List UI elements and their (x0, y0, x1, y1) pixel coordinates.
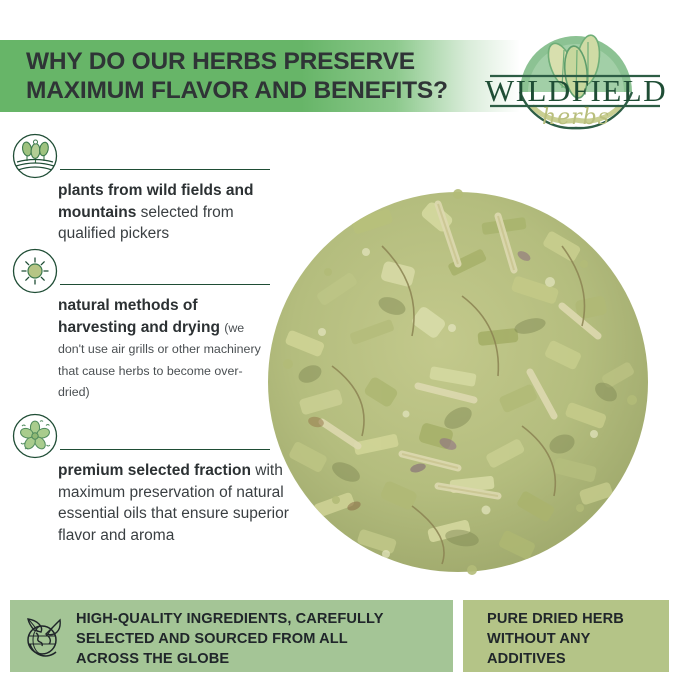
flower-icon (12, 413, 58, 459)
feature-text: plants from wild fields and mountains se… (58, 180, 288, 245)
feature-text: natural methods of harvesting and drying… (58, 295, 273, 403)
brand-logo: WILDFIELD herbs (484, 14, 668, 130)
feature-divider (60, 449, 270, 450)
banner-pure-dried-herb: PURE DRIED HERB WITHOUT ANY ADDITIVES (463, 600, 669, 672)
feature-divider (60, 284, 270, 285)
feature-text: premium selected fraction with maximum p… (58, 460, 298, 546)
sun-icon (12, 248, 58, 294)
banner-high-quality-ingredients: HIGH-QUALITY INGREDIENTS, CAREFULLY SELE… (10, 600, 453, 672)
banner-text: HIGH-QUALITY INGREDIENTS, CAREFULLY SELE… (76, 609, 448, 669)
feature-divider (60, 169, 270, 170)
product-infographic: WHY DO OUR HERBS PRESERVE MAXIMUM FLAVOR… (0, 0, 679, 679)
banner-text: PURE DRIED HERB WITHOUT ANY ADDITIVES (487, 609, 667, 669)
field-plants-icon (12, 133, 58, 179)
dried-herb-pile-image (262, 186, 654, 578)
logo-brand-name: WILDFIELD (485, 73, 667, 108)
globe-leaf-icon (22, 614, 68, 660)
feature-lead: premium selected fraction (58, 462, 251, 479)
logo-brand-script: herbs (542, 105, 610, 130)
feature-lead: natural methods of harvesting and drying (58, 297, 220, 336)
page-title: WHY DO OUR HERBS PRESERVE MAXIMUM FLAVOR… (26, 47, 486, 105)
